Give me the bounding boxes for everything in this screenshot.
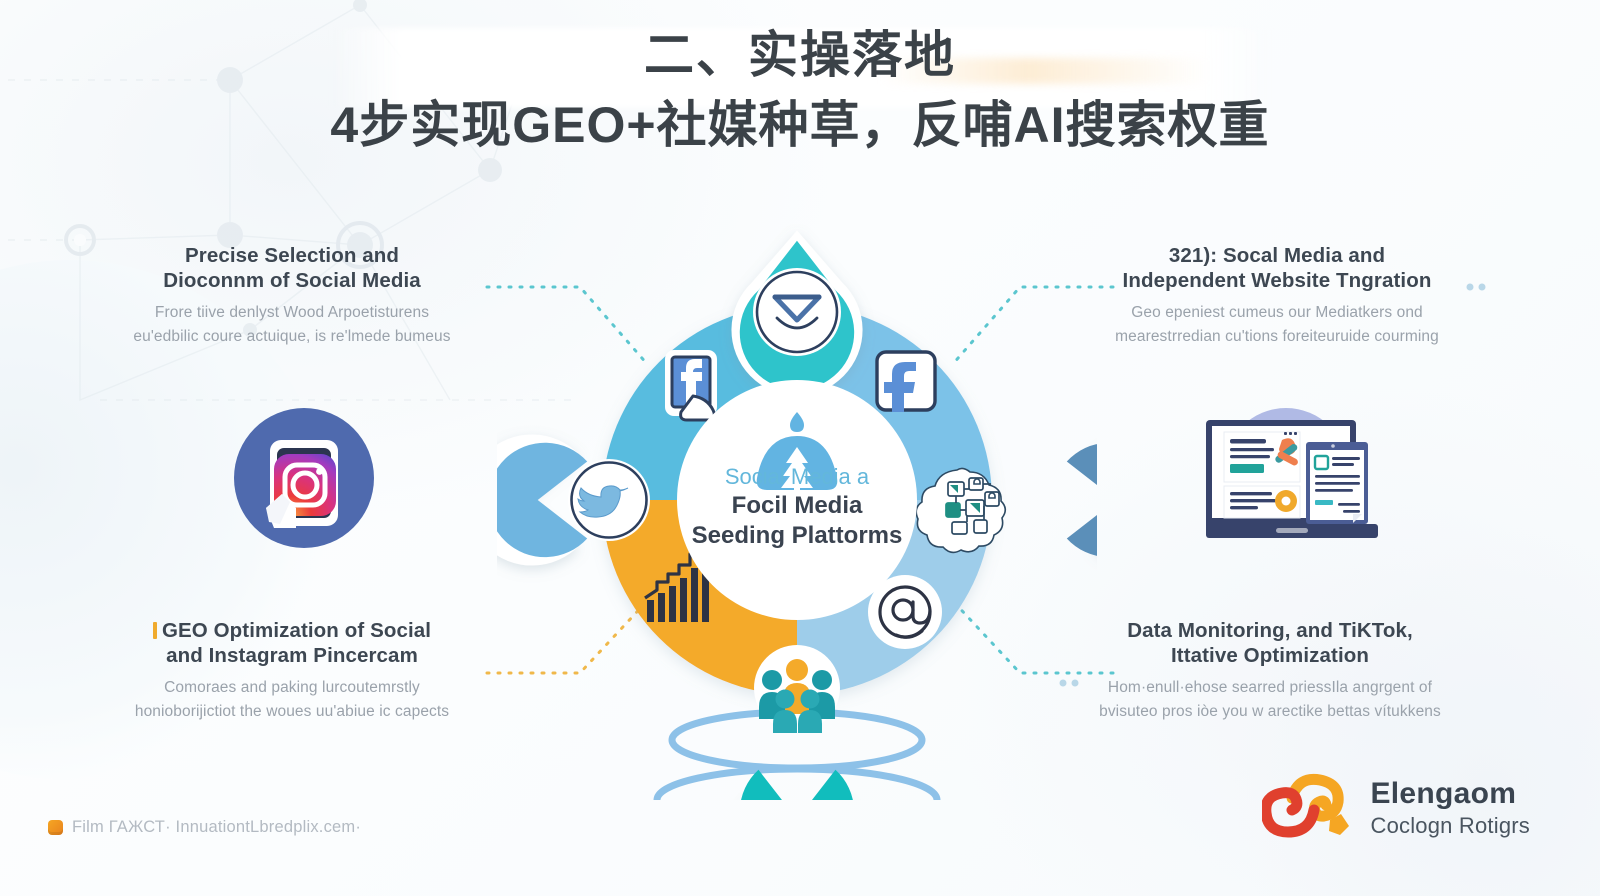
brand-tagline: Coclogn Rotigrs xyxy=(1370,815,1530,837)
hub-text: Social Media a Focil Media Seeding Platt… xyxy=(657,463,937,551)
callout-body-line1: Comoraes and paking lurcoutemrstly xyxy=(164,679,420,696)
petal-top-inner xyxy=(740,241,854,390)
callout-body: Frore tiive denlyst Wood Arpoetisturens … xyxy=(112,301,472,349)
callout-heading: Data Monitoring, and TiKTok, Ittative Op… xyxy=(1070,618,1470,668)
callout-body-line2: mearestrredian cu'tions foreiteuruide co… xyxy=(1115,328,1439,345)
callout-heading: Precise Selection and Dioconnm of Social… xyxy=(112,243,472,293)
callout-heading: 321): Socal Media and Independent Websit… xyxy=(1082,243,1472,293)
callout-heading-line2: and Instagram Pincercam xyxy=(166,644,418,667)
hub-line-3: Seeding Plattorms xyxy=(657,521,937,551)
title-line-1: 二、实操落地 xyxy=(0,24,1600,86)
brand-lockup: Elengaom Coclogn Rotigrs xyxy=(1262,768,1530,848)
callout-heading-line2: Ittative Optimization xyxy=(1171,644,1369,667)
callout-heading: GEO Optimization of Social and Instagram… xyxy=(112,618,472,668)
hub-line-2: Focil Media xyxy=(657,491,937,521)
page-title: 二、实操落地 4步实现GEO+社媒种草，反哺AI搜索权重 xyxy=(0,24,1600,160)
callout-bottom-right: Data Monitoring, and TiKTok, Ittative Op… xyxy=(1070,618,1470,724)
facebook-square-icon xyxy=(877,352,935,412)
callout-body-line1: Hom·enull·ehose searred priessIla angrge… xyxy=(1108,679,1432,696)
callout-body: Hom·enull·ehose searred priessIla angrge… xyxy=(1070,676,1470,724)
callout-heading-line1: GEO Optimization of Social xyxy=(162,619,431,642)
title-line-2: 4步实现GEO+社媒种草，反哺AI搜索权重 xyxy=(0,90,1600,160)
callout-heading-line1: 321): Socal Media and xyxy=(1169,244,1385,267)
source-credit-text: Film ГАЖСТ· InnuationtLbredplix.cem· xyxy=(72,818,361,837)
instagram-on-phone-icon xyxy=(222,396,387,561)
callout-heading-line1: Data Monitoring, and TiKTok, xyxy=(1127,619,1413,642)
slide-canvas: 二、实操落地 4步实现GEO+社媒种草，反哺AI搜索权重 Precise Sel… xyxy=(0,0,1600,896)
orange-square-icon xyxy=(48,820,63,835)
callout-heading-line1: Precise Selection and xyxy=(185,244,399,267)
callout-accent-bar xyxy=(153,622,157,639)
callout-body-line1: Geo epeniest cumeus our Mediatkers ond xyxy=(1131,304,1423,321)
callout-body-line1: Frore tiive denlyst Wood Arpoetisturens xyxy=(155,304,429,321)
callout-body-line2: eu'edbilic coure actuique, is re'lmede b… xyxy=(133,328,450,345)
callout-top-right: 321): Socal Media and Independent Websit… xyxy=(1082,243,1472,349)
hub-line-1: Social Media a xyxy=(657,463,937,490)
brand-name: Elengaom xyxy=(1370,779,1530,809)
laptop-webpage-document-icon xyxy=(1178,392,1393,562)
callout-heading-line2: Dioconnm of Social Media xyxy=(163,269,421,292)
abstract-swirl-logo-icon xyxy=(1262,768,1354,848)
callout-top-left: Precise Selection and Dioconnm of Social… xyxy=(112,243,472,349)
callout-body: Geo epeniest cumeus our Mediatkers ond m… xyxy=(1082,301,1472,349)
source-credit: Film ГАЖСТ· InnuationtLbredplix.cem· xyxy=(48,818,361,837)
pedestal-ring-lower xyxy=(657,769,937,800)
callout-body-line2: bvisuteo pros iòe you w arectike bettas … xyxy=(1099,703,1441,720)
callout-heading-line2: Independent Website Tngration xyxy=(1123,269,1432,292)
callout-bottom-left: GEO Optimization of Social and Instagram… xyxy=(112,618,472,724)
callout-body-line2: honioborijictiot the woues uu'abiue ic c… xyxy=(135,703,449,720)
facebook-tablet-touch-icon xyxy=(665,350,717,420)
callout-body: Comoraes and paking lurcoutemrstly honio… xyxy=(112,676,472,724)
